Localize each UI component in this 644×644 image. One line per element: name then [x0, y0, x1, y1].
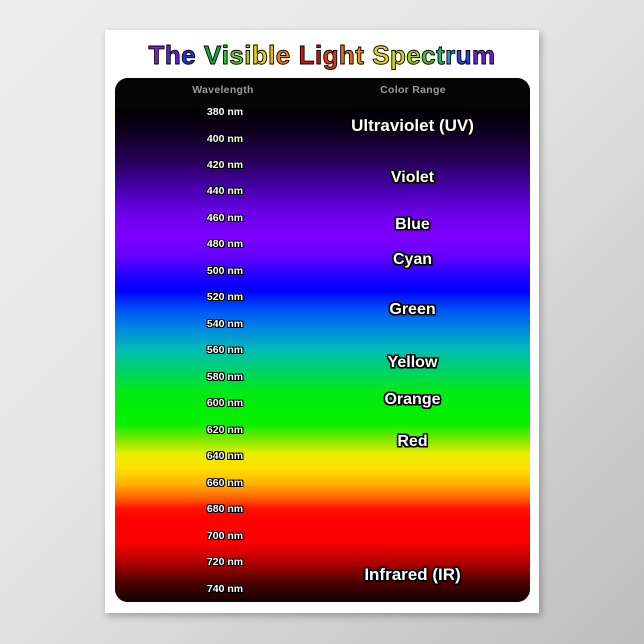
title-letter-24: u: [456, 38, 472, 72]
title-letter-18: S: [372, 38, 390, 72]
title-letter-25: m: [472, 38, 496, 72]
title-letter-6: s: [229, 38, 244, 72]
title-letter-21: c: [421, 38, 436, 72]
poster-board: TheVisibleLightSpectrum Wavelength Color…: [105, 30, 539, 613]
column-header-color-range: Color Range: [323, 84, 503, 96]
color-range-label-green: Green: [305, 301, 520, 319]
title-letter-2: e: [181, 38, 196, 72]
color-range-label-blue: Blue: [305, 216, 520, 234]
color-range-label-yellow: Yellow: [305, 354, 520, 372]
title-letter-1: h: [165, 38, 181, 72]
color-range-label-infrared-ir: Infrared (IR): [305, 565, 520, 585]
title-letter-23: r: [445, 38, 456, 72]
color-range-label-ultraviolet-uv: Ultraviolet (UV): [305, 116, 520, 136]
poster-scene: TheVisibleLightSpectrum Wavelength Color…: [0, 0, 644, 644]
title-letter-9: l: [268, 38, 276, 72]
page-title: TheVisibleLightSpectrum: [105, 38, 539, 72]
color-range-label-violet: Violet: [305, 169, 520, 187]
title-letter-4: V: [204, 38, 222, 72]
panel-header: Wavelength Color Range: [115, 78, 530, 108]
column-header-wavelength: Wavelength: [143, 84, 303, 96]
title-letter-22: t: [436, 38, 445, 72]
title-letter-10: e: [276, 38, 291, 72]
title-letter-20: e: [406, 38, 421, 72]
color-range-label-cyan: Cyan: [305, 251, 520, 269]
title-letter-13: i: [315, 38, 323, 72]
title-letter-7: i: [244, 38, 252, 72]
color-range-label-orange: Orange: [305, 391, 520, 409]
title-letter-8: b: [252, 38, 268, 72]
color-range-label-red: Red: [305, 433, 520, 451]
title-letter-12: L: [299, 38, 315, 72]
color-range-label-list: Ultraviolet (UV)VioletBlueCyanGreenYello…: [115, 78, 530, 602]
title-letter-16: t: [355, 38, 364, 72]
title-letter-14: g: [323, 38, 339, 72]
spectrum-panel: Wavelength Color Range 380 nm400 nm420 n…: [115, 78, 530, 602]
title-letter-15: h: [339, 38, 355, 72]
title-letter-19: p: [390, 38, 406, 72]
title-letter-0: T: [149, 38, 165, 72]
